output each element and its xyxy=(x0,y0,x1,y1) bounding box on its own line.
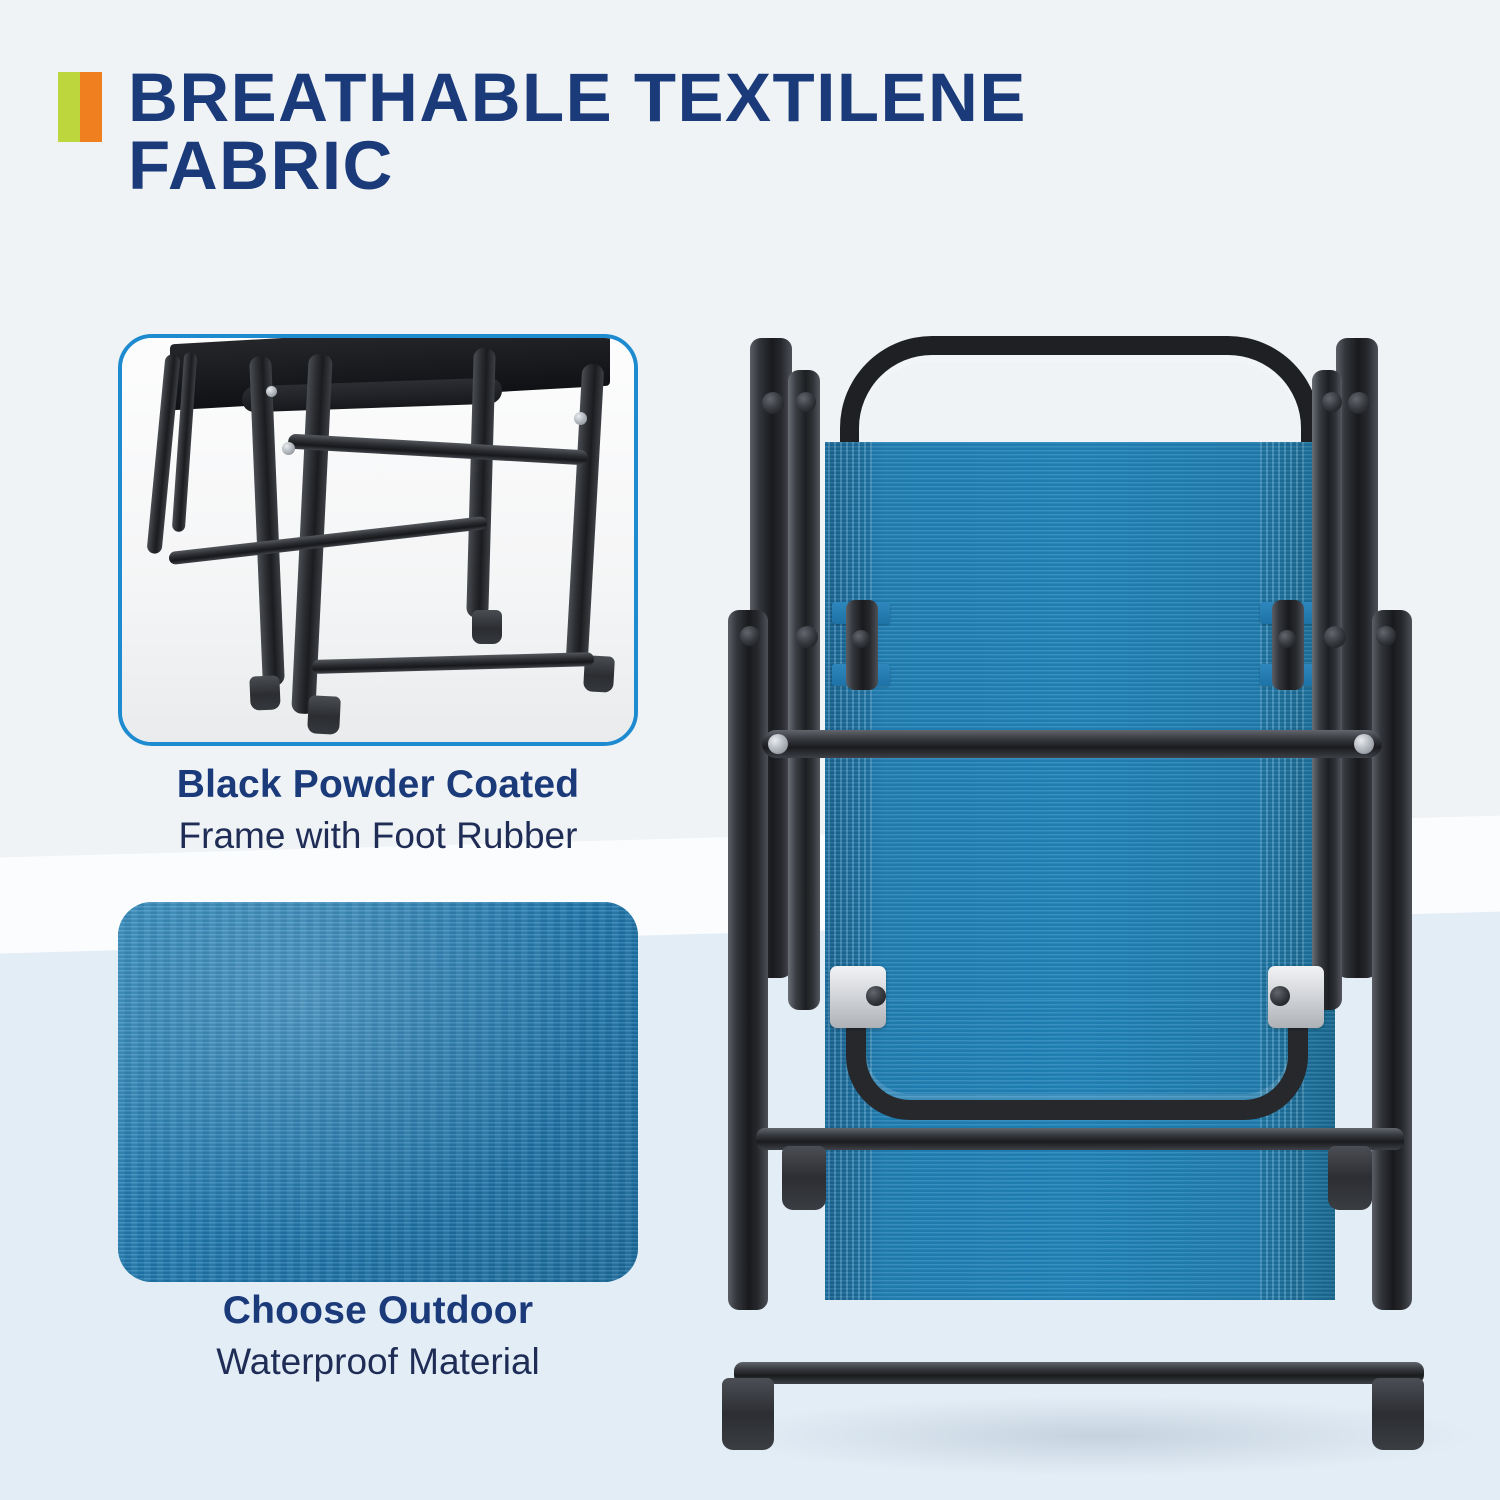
pivot-rivet-3 xyxy=(266,386,277,397)
cross-brace-lower xyxy=(312,652,594,674)
product-image-folded-chair xyxy=(700,300,1490,1480)
caption-title: Choose Outdoor xyxy=(118,1288,638,1334)
green-accent-bar xyxy=(58,72,80,142)
backrest-fabric-panel xyxy=(825,442,1335,1002)
orange-accent-bar xyxy=(80,72,102,142)
caption-subtitle: Frame with Foot Rubber xyxy=(118,812,638,860)
pivot-bolt-right-top xyxy=(1348,392,1370,414)
pivot-bolt-right-mid xyxy=(1376,626,1396,646)
caption-choose-outdoor: Choose Outdoor Waterproof Material xyxy=(118,1288,638,1386)
pivot-bolt-right-top-2 xyxy=(1322,392,1342,412)
foot-cap-inner-left xyxy=(782,1146,826,1210)
foot-rubber-left xyxy=(249,675,280,710)
cross-brace-upper-right xyxy=(288,434,588,466)
cross-brace-upper-left xyxy=(168,516,487,565)
product-shadow xyxy=(720,1396,1480,1476)
accent-bars xyxy=(58,72,102,142)
left-front-leg-post xyxy=(728,610,768,1310)
pivot-bolt-right-mid-2 xyxy=(1324,626,1346,648)
clamp-bolt-right xyxy=(1270,986,1290,1006)
front-right-leg xyxy=(566,364,605,665)
caption-black-powder-coated: Black Powder Coated Frame with Foot Rubb… xyxy=(118,762,638,860)
foot-cap-inner-right xyxy=(1328,1146,1372,1210)
fabric-fold-left xyxy=(828,442,872,1002)
foot-rubber-rear-right xyxy=(472,610,502,644)
crossbar-rivet-right xyxy=(1354,734,1374,754)
caption-subtitle: Waterproof Material xyxy=(118,1338,638,1386)
right-armrest-post xyxy=(1312,370,1342,1010)
pivot-rivet-2 xyxy=(574,412,587,425)
feature-card-black-powder-coated xyxy=(118,334,638,746)
headline-block: BREATHABLE TEXTILENE FABRIC xyxy=(58,64,1027,201)
front-crossbar xyxy=(762,730,1382,758)
pivot-bolt-left-mid-2 xyxy=(796,626,818,648)
bottom-u-frame xyxy=(846,990,1308,1120)
infographic-page: BREATHABLE TEXTILENE FABRIC xyxy=(0,0,1500,1500)
mid-cross-brace xyxy=(756,1128,1404,1150)
armrest-bolt-left xyxy=(852,630,870,648)
armrest-bolt-right xyxy=(1278,630,1296,648)
foot-cap-front-left xyxy=(722,1378,774,1450)
crossbar-rivet-left xyxy=(768,734,788,754)
right-front-leg-post xyxy=(1372,610,1412,1310)
caption-title: Black Powder Coated xyxy=(118,762,638,808)
foot-rubber-center xyxy=(307,695,341,735)
left-armrest-post xyxy=(788,370,820,1010)
fabric-sheen xyxy=(118,902,638,1282)
chair-frame-leg-photo xyxy=(122,338,634,742)
pivot-bolt-left-mid xyxy=(740,626,760,646)
feature-card-fabric-swatch xyxy=(118,902,638,1282)
clamp-bolt-left xyxy=(866,986,886,1006)
foot-cap-front-right xyxy=(1372,1378,1424,1450)
pivot-bolt-left-top xyxy=(762,392,784,414)
bottom-cross-brace xyxy=(734,1362,1424,1384)
page-title: BREATHABLE TEXTILENE FABRIC xyxy=(128,64,1027,201)
pivot-bolt-left-top-2 xyxy=(796,392,816,412)
pivot-rivet-1 xyxy=(282,442,295,455)
fabric-fold-right xyxy=(1260,442,1304,1002)
